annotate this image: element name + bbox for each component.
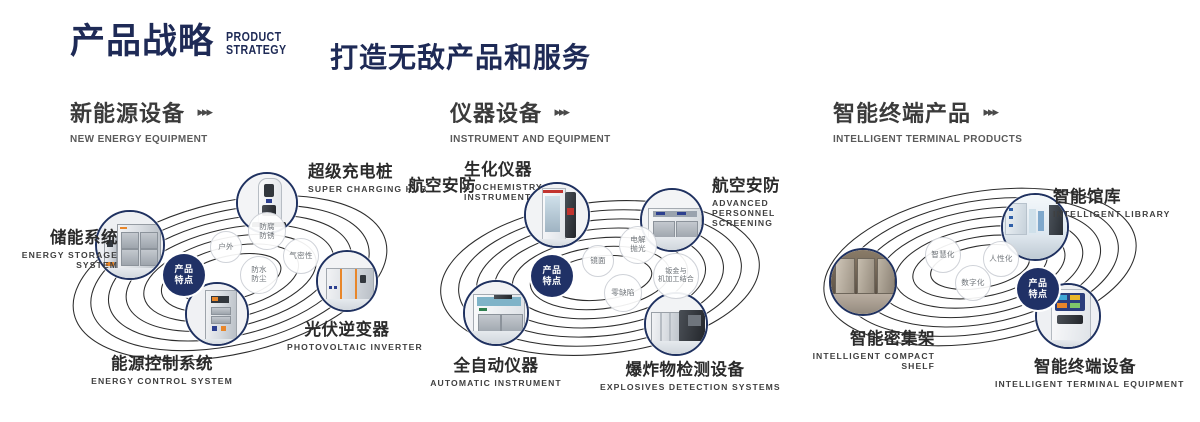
node-label-intelligent-library: 智能馆库 INTELLIGENT LIBRARY: [1053, 183, 1171, 219]
badge-line2: 特点: [1028, 289, 1047, 300]
feature-bubble: 户外: [210, 231, 242, 263]
section-heading-new-energy-equipment: 新能源设备 ▸▸▸ NEW ENERGY EQUIPMENT: [70, 96, 215, 145]
feature-bubble: 电解抛光: [619, 226, 657, 264]
feature-bubble: 零缺陷: [604, 274, 642, 312]
inverter-cabinet-photo: [318, 252, 376, 310]
product-node-explosives-detection-systems[interactable]: [644, 292, 708, 356]
page-title-en-line2: STRATEGY: [226, 43, 287, 56]
product-node-automatic-instrument[interactable]: [463, 280, 529, 346]
page-slogan: 打造无敌产品和服务: [330, 36, 591, 76]
node-label-cn: 爆炸物检测设备: [600, 356, 770, 380]
node-label-biochemistry-instrument: 生化仪器 BIOCHEMISTRY INSTRUMENT: [464, 156, 564, 202]
node-label-cn: 智能密集架: [795, 325, 935, 349]
node-label-advanced-personnel-screening: 航空安防 ADVANCED PERSONNEL SCREENING: [712, 172, 816, 228]
node-label-cn: 储能系统: [18, 224, 118, 248]
node-label-cn: 光伏逆变器: [287, 316, 407, 340]
node-label-energy-control-system: 能源控制系统 ENERGY CONTROL SYSTEM: [72, 350, 252, 386]
node-label-cn: 航空安防: [712, 172, 816, 196]
orbit-cluster-intelligent-terminal-products: 智能馆库 INTELLIGENT LIBRARY 智能密集架 INTELLIGE…: [805, 155, 1200, 405]
node-label-en: ADVANCED PERSONNEL SCREENING: [712, 198, 816, 228]
node-label-en: PHOTOVOLTAIC INVERTER: [287, 342, 407, 352]
node-label-photovoltaic-inverter: 光伏逆变器 PHOTOVOLTAIC INVERTER: [287, 316, 407, 352]
badge-line1: 产品: [174, 264, 193, 275]
product-features-badge[interactable]: 产品 特点: [1017, 268, 1059, 310]
feature-bubble: 镜面: [582, 245, 614, 277]
node-label-automatic-instrument: 全自动仪器 AUTOMATIC INSTRUMENT: [416, 352, 576, 388]
product-node-photovoltaic-inverter[interactable]: [316, 250, 378, 312]
node-label-explosives-detection-systems: 爆炸物检测设备 EXPLOSIVES DETECTION SYSTEMS: [600, 356, 770, 392]
badge-line1: 产品: [542, 265, 561, 276]
feature-bubble: 智慧化: [925, 237, 961, 273]
node-label-intelligent-terminal-equipment: 智能终端设备 INTELLIGENT TERMINAL EQUIPMENT: [995, 353, 1175, 389]
page-title-cn: 产品战略: [70, 24, 214, 59]
section-title-cn: 仪器设备: [450, 96, 542, 128]
feature-bubble: 防水防尘: [240, 256, 278, 294]
orbit-cluster-instrument-and-equipment: 航空安防 生化仪器 BIOCHEMISTRY INSTRUMENT: [420, 150, 820, 400]
section-heading-instrument-and-equipment: 仪器设备 ▸▸▸ INSTRUMENT AND EQUIPMENT: [450, 96, 619, 145]
compact-shelf-photo: [831, 250, 895, 314]
node-label-energy-storage-system: 储能系统 ENERGY STORAGE SYSTEM: [18, 224, 118, 270]
feature-bubble: 防腐防锈: [248, 212, 286, 250]
section-heading-intelligent-terminal-products: 智能终端产品 ▸▸▸ INTELLIGENT TERMINAL PRODUCTS: [833, 96, 1032, 145]
chevron-right-icon: ▸▸▸: [197, 104, 211, 120]
orbit-cluster-new-energy-equipment: 储能系统 ENERGY STORAGE SYSTEM 超级充电桩 SUPER C…: [40, 150, 440, 400]
feature-bubble: 人性化: [983, 241, 1019, 277]
product-features-badge[interactable]: 产品 特点: [163, 254, 205, 296]
page-title-group: 产品战略 PRODUCT STRATEGY: [70, 24, 300, 59]
node-label-cn: 全自动仪器: [416, 352, 576, 376]
feature-bubble: 气密性: [283, 238, 319, 274]
node-label-en: AUTOMATIC INSTRUMENT: [416, 378, 576, 388]
node-label-en: INTELLIGENT TERMINAL EQUIPMENT: [995, 379, 1175, 389]
page-title-en-line1: PRODUCT: [226, 30, 287, 43]
feature-bubble: 钣金与机加工结合: [653, 253, 699, 299]
node-label-cn: 能源控制系统: [72, 350, 252, 374]
section-title-en: INSTRUMENT AND EQUIPMENT: [450, 133, 611, 145]
node-label-en: INTELLIGENT LIBRARY: [1053, 209, 1171, 219]
node-label-cn: 智能终端设备: [995, 353, 1175, 377]
badge-line2: 特点: [174, 275, 193, 286]
section-title-cn: 智能终端产品: [833, 96, 971, 128]
node-label-en: BIOCHEMISTRY INSTRUMENT: [464, 182, 564, 202]
node-label-en: INTELLIGENT COMPACT SHELF: [795, 351, 935, 371]
node-label-en: EXPLOSIVES DETECTION SYSTEMS: [600, 382, 770, 392]
node-label-en: ENERGY CONTROL SYSTEM: [72, 376, 252, 386]
badge-line1: 产品: [1028, 278, 1047, 289]
chevron-right-icon: ▸▸▸: [554, 104, 568, 120]
product-features-badge[interactable]: 产品 特点: [531, 255, 573, 297]
feature-bubble: 数字化: [955, 265, 991, 301]
control-cabinet-photo: [187, 284, 247, 344]
product-node-intelligent-compact-shelf[interactable]: [829, 248, 897, 316]
badge-line2: 特点: [542, 276, 561, 287]
infographic-canvas: 产品战略 PRODUCT STRATEGY 打造无敌产品和服务 新能源设备 ▸▸…: [0, 0, 1200, 422]
node-label-cn: 智能馆库: [1053, 183, 1171, 207]
node-label-cn: 生化仪器: [464, 156, 564, 180]
node-label-intelligent-compact-shelf: 智能密集架 INTELLIGENT COMPACT SHELF: [795, 325, 935, 371]
chevron-right-icon: ▸▸▸: [983, 104, 997, 120]
page-title-en: PRODUCT STRATEGY: [226, 30, 287, 57]
section-title-cn: 新能源设备: [70, 96, 185, 128]
automatic-instrument-photo: [465, 282, 527, 344]
explosives-detector-photo: [646, 294, 706, 354]
section-title-en: INTELLIGENT TERMINAL PRODUCTS: [833, 133, 1022, 145]
section-title-en: NEW ENERGY EQUIPMENT: [70, 133, 208, 145]
node-label-en: ENERGY STORAGE SYSTEM: [18, 250, 118, 270]
